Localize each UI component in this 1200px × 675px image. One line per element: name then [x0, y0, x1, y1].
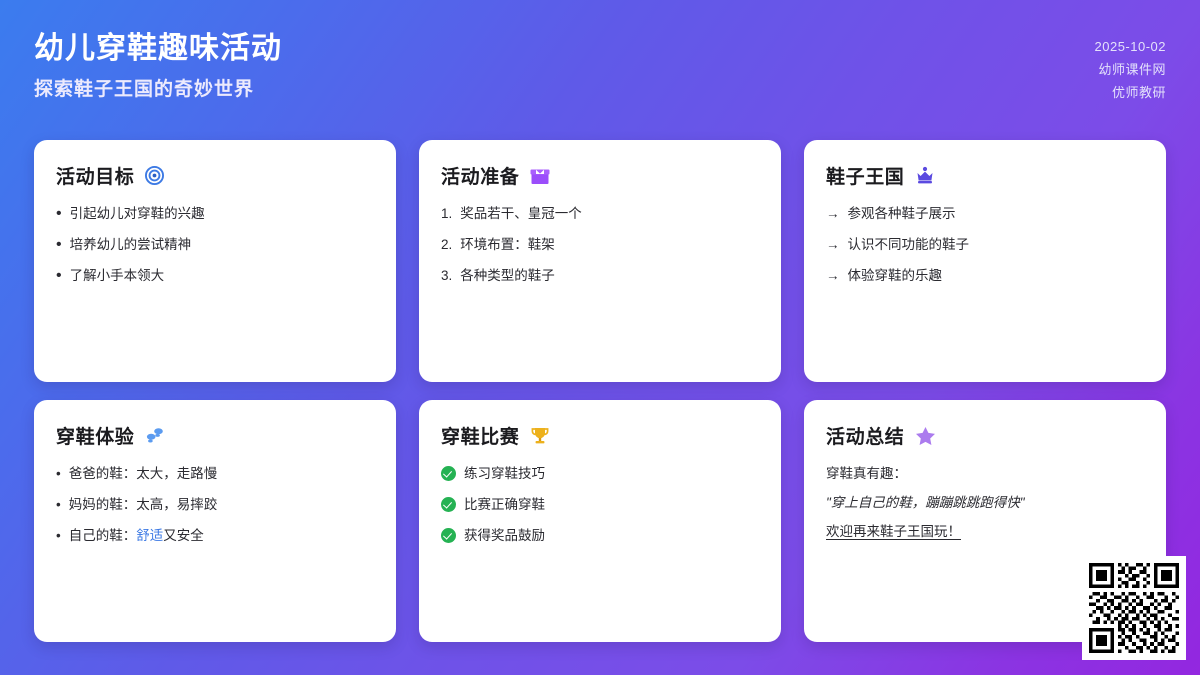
page-title: 幼儿穿鞋趣味活动: [34, 30, 282, 68]
card-title-text: 鞋子王国: [826, 162, 904, 189]
card-grid: 活动目标 •引起幼儿对穿鞋的兴趣 •培养幼儿的尝试精神 •了解小手本领大 活动准…: [34, 140, 1166, 642]
list-item-suffix: 又安全: [163, 528, 204, 543]
header-left: 幼儿穿鞋趣味活动 探索鞋子王国的奇妙世界: [34, 26, 282, 102]
card-title-row: 活动目标: [56, 162, 374, 189]
list-item: 比赛正确穿鞋: [441, 496, 759, 514]
goals-list: •引起幼儿对穿鞋的兴趣 •培养幼儿的尝试精神 •了解小手本领大: [56, 205, 374, 286]
slide-root: 幼儿穿鞋趣味活动 探索鞋子王国的奇妙世界 2025-10-02 幼师课件网 优师…: [0, 0, 1200, 675]
contest-list: 练习穿鞋技巧 比赛正确穿鞋 获得奖品鼓励: [441, 465, 759, 546]
list-item-text: 妈妈的鞋：太高，易摔跤: [69, 496, 218, 514]
summary-link[interactable]: 欢迎再来鞋子王国玩！: [826, 523, 1144, 541]
card-title-row: 穿鞋体验: [56, 422, 374, 449]
target-icon: [145, 166, 164, 185]
experience-list: •爸爸的鞋：太大，走路慢 •妈妈的鞋：太高，易摔跤 • 自己的鞋：舒适又安全: [56, 465, 374, 546]
qr-code[interactable]: [1082, 556, 1186, 660]
header-meta: 2025-10-02 幼师课件网 优师教研: [1095, 26, 1167, 104]
check-circle-icon: [441, 497, 456, 512]
number-marker: 2.: [441, 236, 452, 254]
card-title-row: 鞋子王国: [826, 162, 1144, 189]
card-title-row: 活动准备: [441, 162, 759, 189]
list-item: 1.奖品若干、皇冠一个: [441, 205, 759, 223]
card-activity-preparation[interactable]: 活动准备 1.奖品若干、皇冠一个 2.环境布置：鞋架 3.各种类型的鞋子: [419, 140, 781, 382]
bullet-icon: •: [56, 496, 61, 514]
list-item-text: 获得奖品鼓励: [464, 527, 545, 545]
page-subtitle: 探索鞋子王国的奇妙世界: [34, 78, 282, 103]
list-item: •培养幼儿的尝试精神: [56, 236, 374, 254]
trophy-icon: [530, 426, 550, 445]
check-circle-icon: [441, 528, 456, 543]
arrow-right-icon: →: [826, 205, 840, 223]
kingdom-list: →参观各种鞋子展示 →认识不同功能的鞋子 →体验穿鞋的乐趣: [826, 205, 1144, 286]
list-item: •引起幼儿对穿鞋的兴趣: [56, 205, 374, 223]
list-item: • 自己的鞋：舒适又安全: [56, 527, 374, 545]
crown-icon: [915, 166, 935, 185]
list-item: •了解小手本领大: [56, 267, 374, 285]
card-title-row: 穿鞋比赛: [441, 422, 759, 449]
list-item: 2.环境布置：鞋架: [441, 236, 759, 254]
bullet-icon: •: [56, 465, 61, 483]
meta-date: 2025-10-02: [1095, 36, 1167, 59]
list-item: →体验穿鞋的乐趣: [826, 267, 1144, 285]
check-circle-icon: [441, 466, 456, 481]
card-shoe-kingdom[interactable]: 鞋子王国 →参观各种鞋子展示 →认识不同功能的鞋子 →体验穿鞋的乐趣: [804, 140, 1166, 382]
card-title-text: 穿鞋体验: [56, 422, 134, 449]
list-item: •妈妈的鞋：太高，易摔跤: [56, 496, 374, 514]
list-item-highlight: 舒适: [136, 528, 163, 543]
gift-icon: [530, 166, 550, 185]
list-item-text: 奖品若干、皇冠一个: [460, 205, 582, 223]
list-item: •爸爸的鞋：太大，走路慢: [56, 465, 374, 483]
card-shoe-contest[interactable]: 穿鞋比赛 练习穿鞋技巧 比赛正确穿鞋 获得奖品鼓励: [419, 400, 781, 642]
card-title-text: 活动准备: [441, 162, 519, 189]
card-title-text: 活动总结: [826, 422, 904, 449]
slide-header: 幼儿穿鞋趣味活动 探索鞋子王国的奇妙世界 2025-10-02 幼师课件网 优师…: [0, 0, 1200, 130]
list-item-text: 环境布置：鞋架: [460, 236, 555, 254]
qr-code-image: [1089, 563, 1179, 653]
card-wearing-experience[interactable]: 穿鞋体验 •爸爸的鞋：太大，走路慢 •妈妈的鞋：太高，易摔跤 • 自己的鞋：舒适…: [34, 400, 396, 642]
list-item-text-composite: 自己的鞋：舒适又安全: [69, 527, 204, 545]
bullet-icon: •: [56, 205, 62, 223]
bullet-icon: •: [56, 236, 62, 254]
preparation-list: 1.奖品若干、皇冠一个 2.环境布置：鞋架 3.各种类型的鞋子: [441, 205, 759, 286]
footprints-icon: [145, 426, 167, 445]
list-item-text: 引起幼儿对穿鞋的兴趣: [70, 205, 205, 223]
list-item-text: 认识不同功能的鞋子: [848, 236, 970, 254]
number-marker: 3.: [441, 267, 452, 285]
list-item-text: 体验穿鞋的乐趣: [848, 267, 943, 285]
list-item-prefix: 自己的鞋：: [69, 528, 137, 543]
list-item: →认识不同功能的鞋子: [826, 236, 1144, 254]
card-activity-goals[interactable]: 活动目标 •引起幼儿对穿鞋的兴趣 •培养幼儿的尝试精神 •了解小手本领大: [34, 140, 396, 382]
summary-intro: 穿鞋真有趣：: [826, 465, 1144, 483]
number-marker: 1.: [441, 205, 452, 223]
bullet-icon: •: [56, 267, 62, 285]
list-item-text: 培养幼儿的尝试精神: [70, 236, 192, 254]
list-item: 练习穿鞋技巧: [441, 465, 759, 483]
list-item-text: 了解小手本领大: [70, 267, 165, 285]
list-item-text: 比赛正确穿鞋: [464, 496, 545, 514]
meta-site: 幼师课件网: [1095, 59, 1167, 82]
star-icon: [915, 426, 936, 446]
meta-org: 优师教研: [1095, 82, 1167, 105]
list-item: 3.各种类型的鞋子: [441, 267, 759, 285]
list-item-text: 爸爸的鞋：太大，走路慢: [69, 465, 218, 483]
list-item: →参观各种鞋子展示: [826, 205, 1144, 223]
list-item-text: 各种类型的鞋子: [460, 267, 555, 285]
card-title-row: 活动总结: [826, 422, 1144, 449]
list-item: 获得奖品鼓励: [441, 527, 759, 545]
list-item-text: 练习穿鞋技巧: [464, 465, 545, 483]
summary-quote: "穿上自己的鞋，蹦蹦跳跳跑得快": [826, 494, 1144, 512]
card-title-text: 活动目标: [56, 162, 134, 189]
list-item-text: 参观各种鞋子展示: [848, 205, 956, 223]
bullet-icon: •: [56, 527, 61, 545]
card-title-text: 穿鞋比赛: [441, 422, 519, 449]
arrow-right-icon: →: [826, 267, 840, 285]
arrow-right-icon: →: [826, 236, 840, 254]
